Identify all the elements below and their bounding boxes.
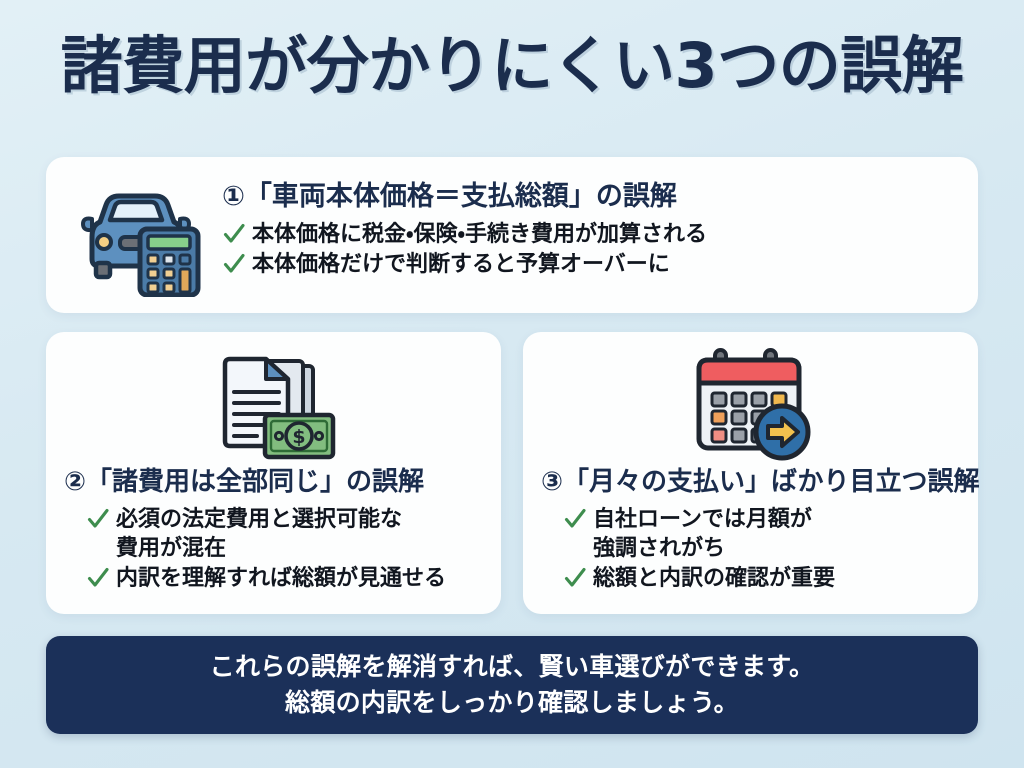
check-icon <box>222 222 246 250</box>
list-item-label: 自社ローンでは月額が 強調されがち <box>593 505 812 563</box>
documents-money-icon: $ <box>209 346 339 470</box>
misconception-card-3: ③「月々の支払い」ばかり目立つ誤解 自社ローンでは月額が 強調されがち <box>523 332 978 614</box>
misconception-card-1: ①「車両本体価格＝支払総額」の誤解 本体価格に税金・保険・手続き費用が加算される <box>46 157 978 313</box>
list-item-label: 内訳を理解すれば総額が見通せる <box>116 564 446 593</box>
card-3-heading: ③「月々の支払い」ばかり目立つ誤解 <box>541 464 964 500</box>
card-2-bullet-list: 必須の法定費用と選択可能な 費用が混在 内訳を理解すれば総額が見通せる <box>64 505 487 593</box>
card-3-bullet-list: 自社ローンでは月額が 強調されがち 総額と内訳の確認が重要 <box>541 505 964 593</box>
list-item-label: 必須の法定費用と選択可能な 費用が混在 <box>116 505 402 563</box>
list-item: 内訳を理解すれば総額が見通せる <box>86 564 487 593</box>
check-icon <box>86 566 110 594</box>
svg-text:$: $ <box>292 426 305 448</box>
infographic-canvas: 諸費用が分かりにくい3つの誤解 <box>0 0 1024 768</box>
card-2-icon-area: $ <box>46 346 501 468</box>
card-1-bullet-list: 本体価格に税金・保険・手続き費用が加算される 本体価格だけで判断すると予算オーバ… <box>222 220 962 279</box>
card-3-icon-area <box>523 346 978 468</box>
card-3-body: ③「月々の支払い」ばかり目立つ誤解 自社ローンでは月額が 強調されがち <box>541 464 964 594</box>
misconception-card-2: $ ②「諸費用は全部同じ」の誤解 必須の法定費用と選択可能な 費用が混在 <box>46 332 501 614</box>
card-2-heading: ②「諸費用は全部同じ」の誤解 <box>64 464 487 500</box>
card-1-heading: ①「車両本体価格＝支払総額」の誤解 <box>222 179 962 215</box>
list-item: 本体価格に税金・保険・手続き費用が加算される <box>222 220 962 249</box>
check-icon <box>222 252 246 280</box>
car-calculator-icon <box>78 175 206 297</box>
list-item: 総額と内訳の確認が重要 <box>563 564 964 593</box>
list-item: 自社ローンでは月額が 強調されがち <box>563 505 964 563</box>
summary-banner: これらの誤解を解消すれば、賢い車選びができます。 総額の内訳をしっかり確認しまし… <box>46 636 978 734</box>
list-item-label: 本体価格だけで判断すると予算オーバーに <box>252 250 670 279</box>
page-title: 諸費用が分かりにくい3つの誤解 <box>0 28 1024 104</box>
list-item-label: 総額と内訳の確認が重要 <box>593 564 835 593</box>
card-1-body: ①「車両本体価格＝支払総額」の誤解 本体価格に税金・保険・手続き費用が加算される <box>222 179 962 280</box>
list-item: 本体価格だけで判断すると予算オーバーに <box>222 250 962 279</box>
check-icon <box>86 507 110 535</box>
check-icon <box>563 507 587 535</box>
list-item-label: 本体価格に税金・保険・手続き費用が加算される <box>252 220 707 249</box>
card-2-body: ②「諸費用は全部同じ」の誤解 必須の法定費用と選択可能な 費用が混在 <box>64 464 487 594</box>
calendar-arrow-icon <box>689 346 813 466</box>
list-item: 必須の法定費用と選択可能な 費用が混在 <box>86 505 487 563</box>
summary-banner-text: これらの誤解を解消すれば、賢い車選びができます。 総額の内訳をしっかり確認しまし… <box>210 649 815 721</box>
check-icon <box>563 566 587 594</box>
